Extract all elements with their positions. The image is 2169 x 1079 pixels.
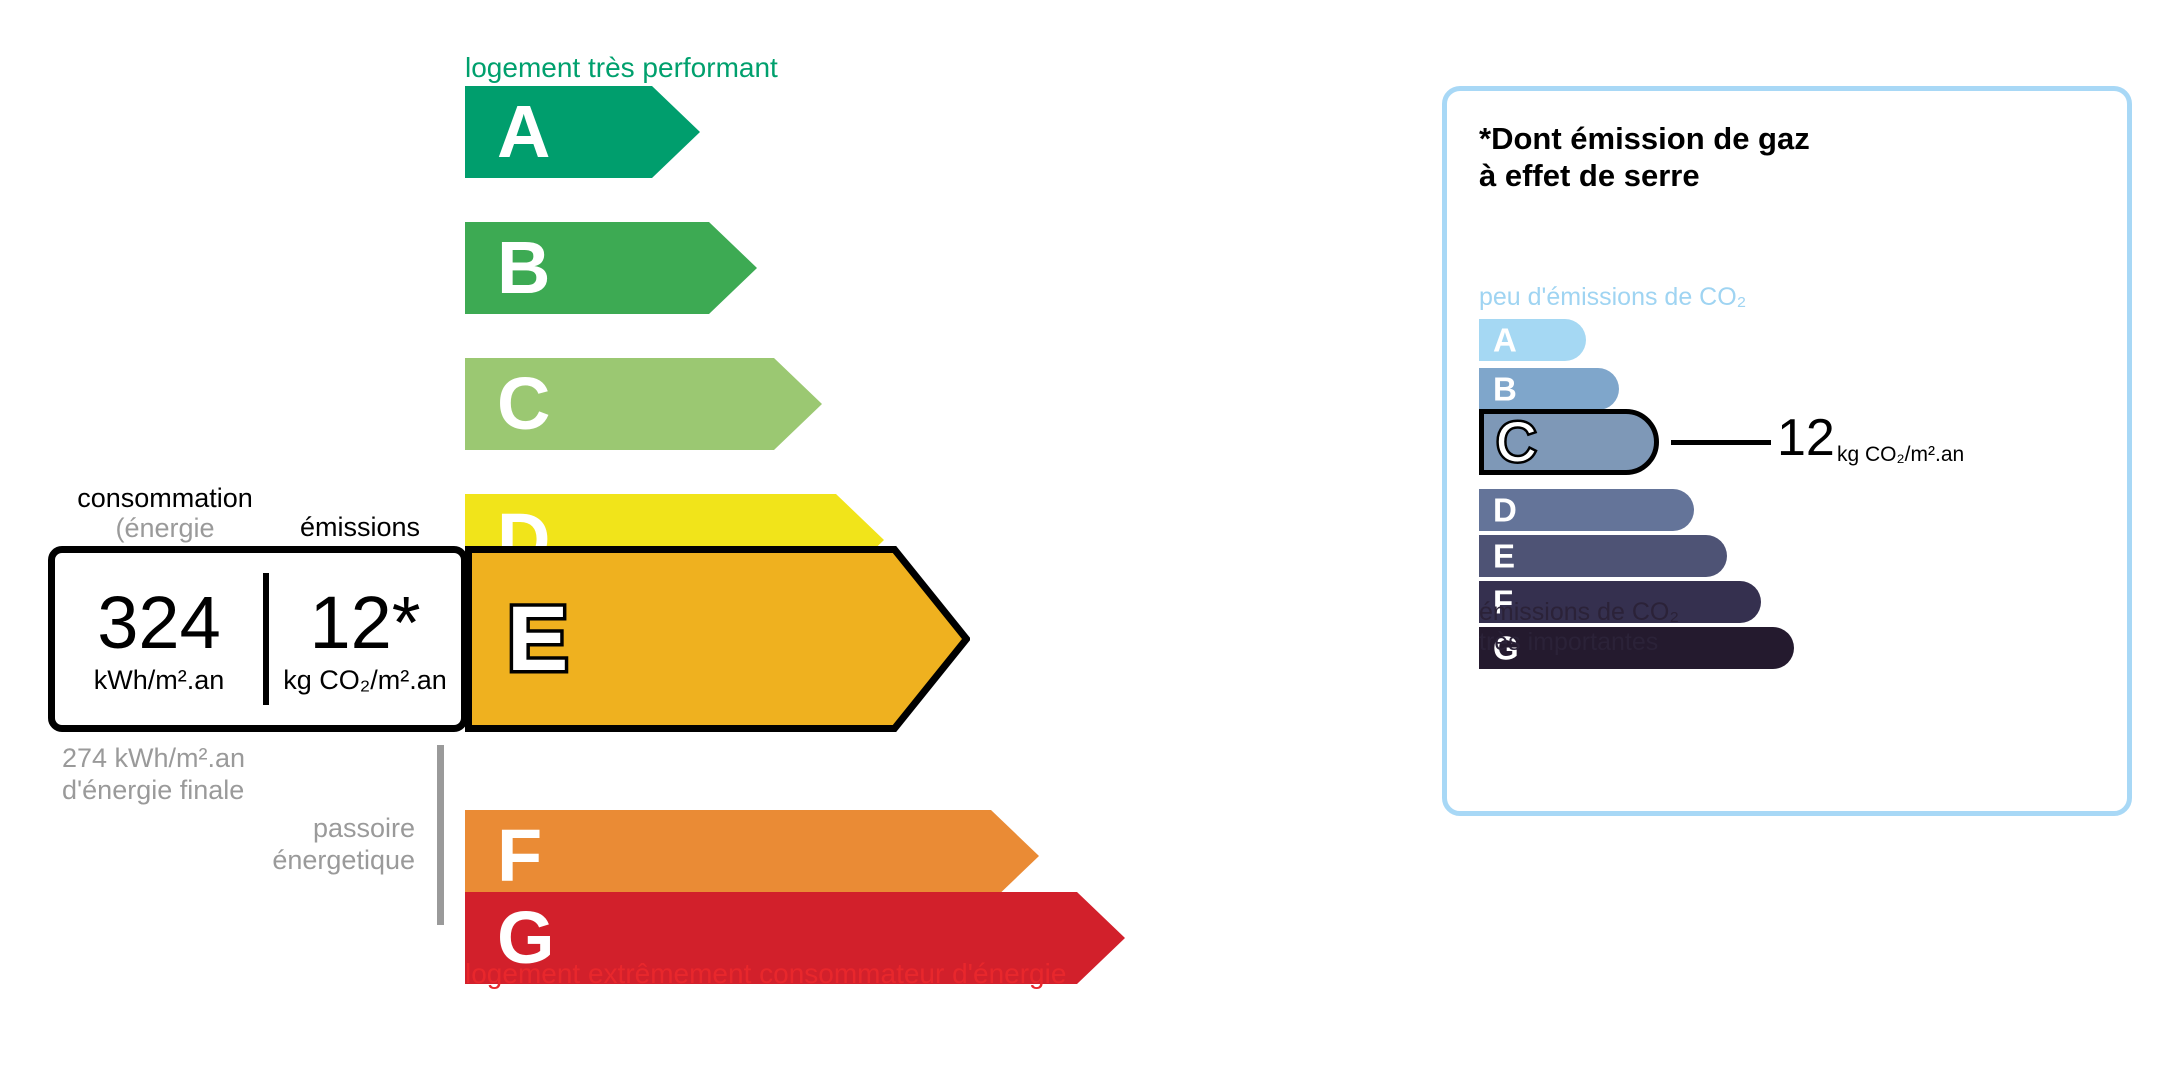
co2-bar-letter-d: D [1493, 494, 1517, 527]
co2-bar-letter-c: C [1496, 414, 1536, 470]
energy-top-caption: logement très performant [465, 52, 778, 84]
consumption-label-line1: consommation [77, 483, 253, 513]
energy-band-shape-e [465, 546, 970, 732]
co2-selected-value: 12 [1777, 412, 1835, 464]
energy-band-shape-c [465, 358, 822, 450]
co2-top-caption: peu d'émissions de CO₂ [1479, 283, 1746, 312]
final-energy-line1: 274 kWh/m².an [62, 742, 245, 774]
co2-bar-d: D [1479, 489, 1694, 531]
primary-energy-cell: 324 kWh/m².an [55, 553, 263, 725]
co2-panel: *Dont émission de gaz à effet de serre p… [1442, 86, 2132, 816]
co2-bar-letter-a: A [1493, 324, 1517, 357]
dpe-energy-chart: logement très performant ABCDEFG consomm… [0, 0, 1400, 1079]
co2-bar-e: E [1479, 535, 1727, 577]
co2-bar-c: C [1479, 409, 1659, 475]
co2-bar-b: B [1479, 368, 1619, 410]
energy-band-c: C [465, 358, 822, 450]
dpe-value-box: 324 kWh/m².an 12* kg CO₂/m².an [48, 546, 468, 732]
passoire-indicator-bar [437, 745, 444, 925]
co2-bar-letter-e: E [1493, 540, 1515, 573]
co2-leader-line [1671, 440, 1771, 445]
passoire-line2: énergetique [200, 844, 415, 876]
co2-bar-letter-b: B [1493, 373, 1517, 406]
final-energy-label: 274 kWh/m².an d'énergie finale [62, 742, 245, 807]
co2-selected-value-unit: kg CO₂/m².an [1837, 443, 1964, 467]
co2-panel-title: *Dont émission de gaz à effet de serre [1479, 121, 1810, 194]
co2-emissions-value: 12* [309, 588, 420, 658]
co2-bottom-caption: émissions de CO₂ très importantes [1479, 597, 1679, 657]
final-energy-line2: d'énergie finale [62, 774, 245, 806]
energy-band-a: A [465, 86, 700, 178]
co2-emissions-unit: kg CO₂/m².an [283, 665, 447, 696]
energy-band-shape-b [465, 222, 757, 314]
energy-bottom-caption: logement extrêmement consommateur d'éner… [465, 958, 1066, 990]
passoire-line1: passoire [200, 812, 415, 844]
energy-band-shape-f [465, 810, 1039, 902]
passoire-label: passoire énergetique [200, 812, 415, 877]
energy-band-e: E [465, 546, 970, 732]
primary-energy-value: 324 [97, 588, 220, 658]
primary-energy-unit: kWh/m².an [94, 665, 225, 696]
energy-band-b: B [465, 222, 757, 314]
energy-band-f: F [465, 810, 1039, 902]
emissions-label: émissions [300, 512, 420, 543]
energy-band-shape-a [465, 86, 700, 178]
co2-bar-a: A [1479, 319, 1586, 361]
co2-emissions-cell: 12* kg CO₂/m².an [269, 553, 461, 725]
